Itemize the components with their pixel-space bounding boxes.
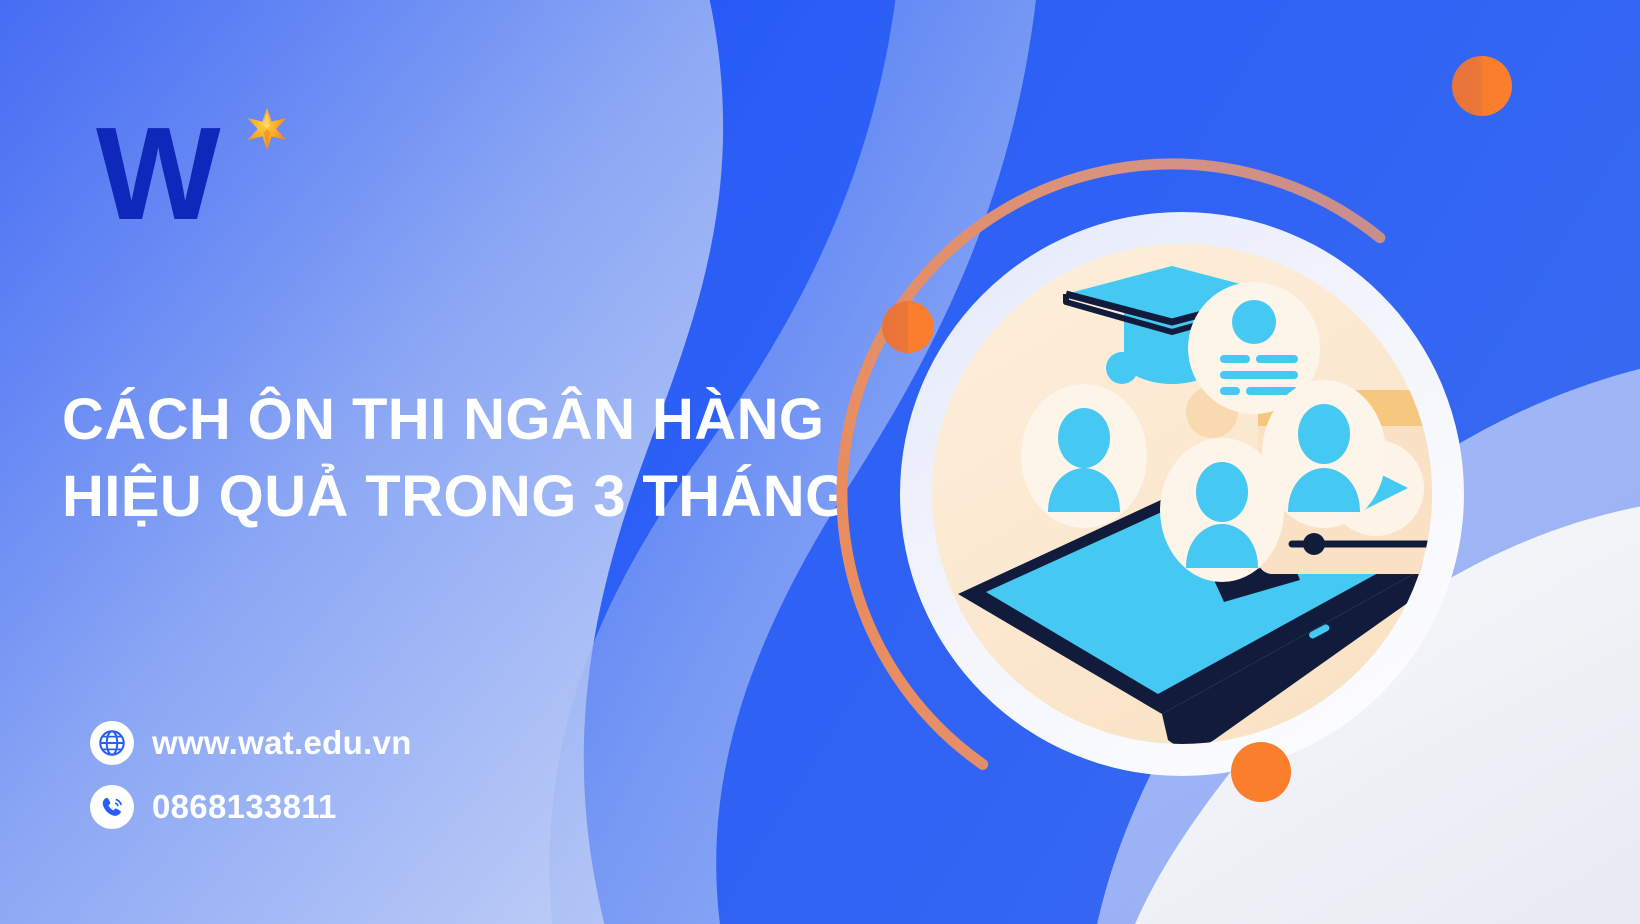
accent-dots-layer <box>0 0 1640 924</box>
accent-dot-top-right <box>1452 56 1512 116</box>
accent-dot-left <box>882 301 934 353</box>
promo-banner: W CÁCH ÔN THI NGÂN HÀNG HIỆU QUẢ TRONG 3… <box>0 0 1640 924</box>
accent-dot-bottom <box>1231 742 1291 802</box>
